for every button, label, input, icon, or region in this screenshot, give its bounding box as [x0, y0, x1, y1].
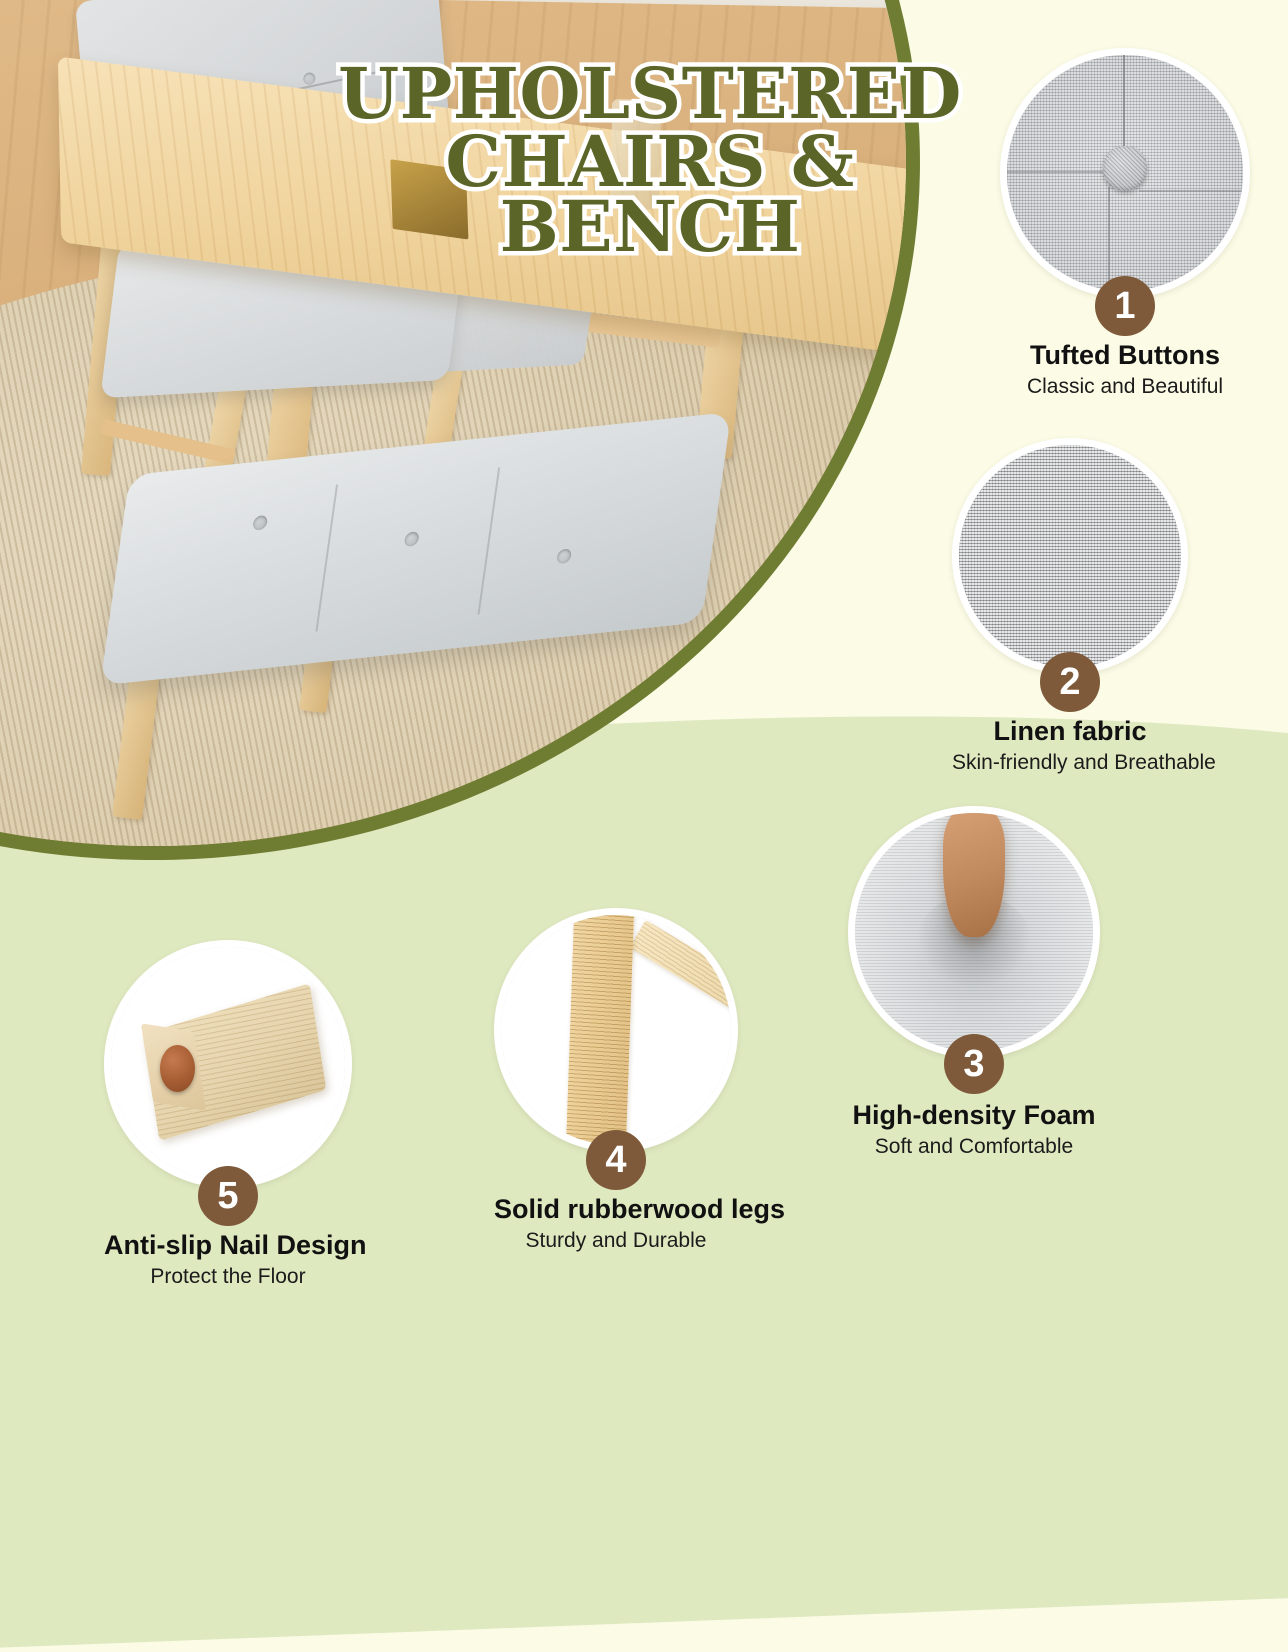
feature-subtitle-4: Sturdy and Durable	[494, 1229, 738, 1253]
foam-press-closeup-image: 3	[848, 806, 1100, 1058]
feature-text-3: High-density Foam Soft and Comfortable	[848, 1100, 1100, 1159]
tufted-button	[404, 532, 420, 548]
tufted-button	[252, 515, 268, 531]
feature-text-1: Tufted Buttons Classic and Beautiful	[1000, 340, 1250, 399]
feature-subtitle-3: Soft and Comfortable	[848, 1135, 1100, 1159]
feature-title-4: Solid rubberwood legs	[494, 1194, 738, 1225]
circle-image-inner	[855, 813, 1093, 1051]
feature-item-4: 4 Solid rubberwood legs Sturdy and Durab…	[494, 908, 738, 1253]
circle-image-inner	[959, 445, 1181, 667]
feature-subtitle-5: Protect the Floor	[104, 1265, 352, 1289]
feature-text-4: Solid rubberwood legs Sturdy and Durable	[494, 1194, 738, 1253]
circle-image-inner	[111, 947, 345, 1181]
wood-leg	[566, 915, 635, 1145]
title-line-2: CHAIRS & BENCH	[330, 130, 970, 259]
feature-text-2: Linen fabric Skin-friendly and Breathabl…	[952, 716, 1188, 775]
feature-number-badge-1: 1	[1095, 276, 1155, 336]
title-line-1: UPHOLSTERED	[330, 62, 970, 126]
anti-slip-nail-icon	[160, 1045, 195, 1092]
tufted-button-closeup-image: 1	[1000, 48, 1250, 298]
seam	[1108, 187, 1110, 291]
anti-slip-nail-closeup-image: 5	[104, 940, 352, 1188]
seam	[1007, 171, 1111, 173]
tufted-button	[1103, 146, 1148, 191]
feature-subtitle-1: Classic and Beautiful	[1000, 375, 1250, 399]
feature-subtitle-2: Skin-friendly and Breathable	[952, 751, 1188, 775]
linen-weave-closeup-image: 2	[952, 438, 1188, 674]
tufted-button	[555, 549, 571, 565]
hand-icon	[943, 813, 1005, 937]
feature-title-2: Linen fabric	[952, 716, 1188, 747]
seam	[315, 485, 338, 632]
infographic-stage: UPHOLSTERED CHAIRS & BENCH 1 Tufted Butt…	[0, 0, 1288, 1288]
feature-title-1: Tufted Buttons	[1000, 340, 1250, 371]
seam	[1139, 190, 1243, 192]
feature-item-2: 2 Linen fabric Skin-friendly and Breatha…	[952, 438, 1188, 775]
circle-image-inner	[501, 915, 731, 1145]
feature-number-badge-5: 5	[198, 1166, 258, 1226]
feature-item-5: 5 Anti-slip Nail Design Protect the Floo…	[104, 940, 352, 1289]
feature-number-badge-4: 4	[586, 1130, 646, 1190]
feature-text-5: Anti-slip Nail Design Protect the Floor	[104, 1230, 352, 1289]
feature-item-1: 1 Tufted Buttons Classic and Beautiful	[1000, 48, 1250, 399]
feature-number-badge-3: 3	[944, 1034, 1004, 1094]
seam	[477, 468, 500, 615]
page-title: UPHOLSTERED CHAIRS & BENCH	[330, 62, 970, 259]
feature-number-badge-2: 2	[1040, 652, 1100, 712]
feature-title-5: Anti-slip Nail Design	[104, 1230, 352, 1261]
tufted-button	[303, 71, 316, 85]
rubberwood-leg-closeup-image: 4	[494, 908, 738, 1152]
linen-texture	[959, 445, 1181, 667]
circle-image-inner	[1007, 55, 1243, 291]
feature-item-3: 3 High-density Foam Soft and Comfortable	[848, 806, 1100, 1159]
feature-title-3: High-density Foam	[848, 1100, 1100, 1131]
